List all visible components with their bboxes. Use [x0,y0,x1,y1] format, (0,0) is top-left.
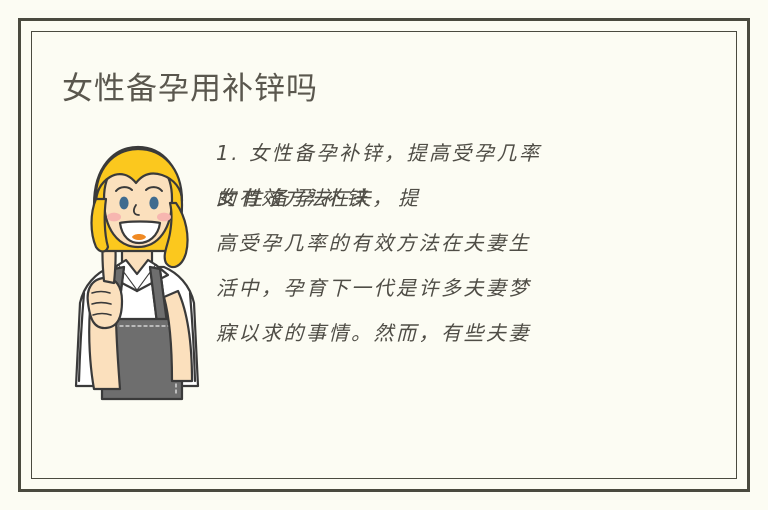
page-content: 女性备孕用补锌吗 [31,31,737,479]
cartoon-woman-pointing-up-illustration [66,141,216,401]
body-area: 1. 女性备孕补锌，提高受孕几率 的有效方法在夫 女性备孕补锌，提 高受孕几率的… [31,131,737,411]
article-line-overlapped: 的有效方法在夫 女性备孕补锌，提 [216,176,666,221]
page-title: 女性备孕用补锌吗 [62,63,318,108]
article-line-2: 高受孕几率的有效方法在夫妻生 [216,221,666,266]
article-line-4: 寐以求的事情。然而，有些夫妻 [216,311,666,356]
article-overlap-layer-b: 女性备孕补锌，提 [216,176,424,221]
article-text: 1. 女性备孕补锌，提高受孕几率 的有效方法在夫 女性备孕补锌，提 高受孕几率的… [216,131,666,356]
article-page: 女性备孕用补锌吗 [0,0,768,510]
article-line-1: 1. 女性备孕补锌，提高受孕几率 [216,131,666,176]
article-line-3: 活中，孕育下一代是许多夫妻梦 [216,266,666,311]
